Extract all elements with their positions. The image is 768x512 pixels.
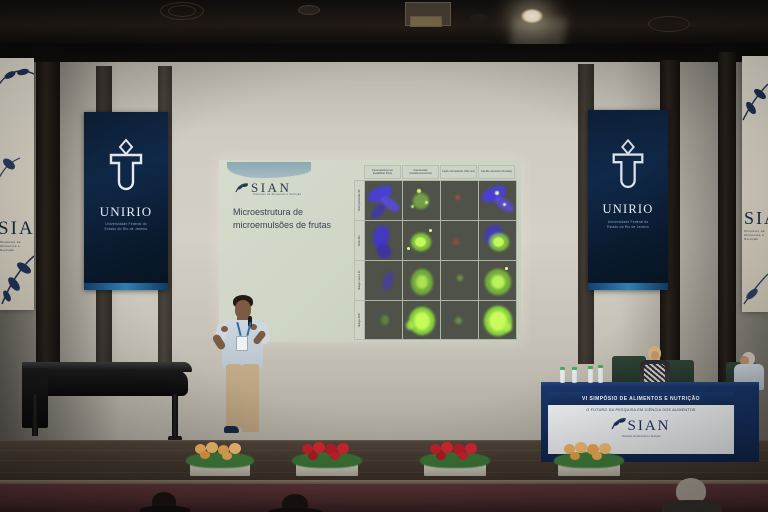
- unirio-banner-left: UNIRIO Universidade Federal do Estado do…: [84, 112, 168, 290]
- slide-page-number: 12: [514, 336, 517, 340]
- projection-screen: SIAN Simpósio de Alimentos e Nutrição Mi…: [219, 160, 521, 342]
- banner-sian-word: SIAN: [548, 416, 734, 435]
- piano-leg-right: [172, 394, 178, 440]
- slide-title: Microestrutura de microemulsões de fruta…: [233, 206, 351, 232]
- ceiling-spotlight: [520, 8, 544, 24]
- ceiling-recessed-light: [298, 5, 320, 15]
- piano-leg-left: [32, 394, 38, 436]
- sian-leaf-icon: [235, 181, 249, 195]
- micrograph-cell-c3: [440, 260, 479, 301]
- unirio-banner-right-name: UNIRIO: [588, 202, 668, 217]
- micrograph-cell-d1: [364, 300, 403, 340]
- micrograph-cell-b1: [364, 220, 403, 261]
- unirio-banner-strip: [84, 283, 168, 290]
- micrograph-cell-a1: [364, 180, 403, 221]
- conference-photo-scene: SIAN Simpósio de Alimentos e Nutrição SI…: [0, 0, 768, 512]
- micrograph-grid: Fluorescência sol (Gelatificar filme) Ca…: [354, 165, 514, 338]
- planter-2-flower: [308, 452, 318, 460]
- unirio-logo-icon-right: [608, 138, 648, 194]
- slide-title-line1: Microestrutura de: [233, 206, 351, 219]
- water-bottle-4: [598, 368, 603, 383]
- ceiling-ring-light-3: [648, 16, 690, 32]
- pillar-left: [36, 62, 60, 372]
- planter-1-flower: [200, 451, 210, 459]
- projector-lens: [410, 16, 442, 27]
- leaf-motif-icon-3: [742, 82, 768, 122]
- leaf-branch-icon: [0, 254, 34, 306]
- leaf-motif-icon-2: [0, 150, 24, 186]
- unirio-banner-right-sub: Universidade Federal do Estado do Rio de…: [588, 220, 668, 230]
- banner-sian-sub: Simpósio de Alimentos e Nutrição: [548, 435, 734, 438]
- planter-4-flower: [599, 443, 611, 454]
- planter-2-foliage: [292, 452, 362, 468]
- leaf-motif-icon-4: [742, 270, 768, 306]
- side-banner-left: SIAN Simpósio de Alimentos e Nutrição: [0, 58, 34, 310]
- micrograph-cell-b3: [440, 220, 479, 261]
- planter-4-flower: [592, 452, 602, 460]
- event-title: VI SIMPÓSIO DE ALIMENTOS E NUTRIÇÃO: [582, 396, 700, 402]
- micrograph-cell-a4: [478, 180, 517, 221]
- bottle-cap-2: [572, 367, 577, 370]
- bottle-cap-3: [588, 366, 593, 369]
- planter-3-flower: [465, 443, 477, 454]
- slide-sian-tagline: Simpósio de Alimentos e Nutrição: [253, 193, 301, 196]
- micrograph-cell-a2: [402, 180, 441, 221]
- planter-1-flower: [222, 452, 232, 460]
- grid-col-header-3: Lipid microparticle (Nile red): [440, 165, 477, 179]
- speaker-hand-left: [221, 326, 228, 332]
- micrograph-cell-b4: [478, 220, 517, 261]
- audience-shoulder-left: [140, 506, 190, 512]
- ceiling-speaker: [470, 14, 488, 21]
- speaker-badge: [236, 336, 248, 351]
- side-banner-right-word: SIAN: [744, 208, 768, 229]
- piano-body: [26, 370, 188, 396]
- unirio-banner-right-strip: [588, 283, 668, 290]
- audience-shoulder-center: [268, 508, 322, 512]
- planter-3-flower: [458, 452, 468, 460]
- planter-4-foliage: [554, 452, 624, 468]
- pillar-far-right: [718, 52, 736, 382]
- planter-2-flower: [330, 452, 340, 460]
- side-banner-sub: Simpósio de Alimentos e Nutrição: [0, 240, 34, 252]
- speaker-shoe-left: [224, 426, 239, 433]
- banner-sian-leaf-icon: [611, 416, 627, 432]
- micrograph-cell-d2: [402, 300, 441, 340]
- side-banner-word: SIAN: [0, 218, 34, 240]
- planter-3-flower: [436, 452, 446, 460]
- grid-col-header-1: Fluorescência sol (Gelatificar filme): [364, 165, 401, 179]
- speaker-leg-right: [242, 364, 259, 432]
- unirio-logo-icon: [105, 138, 147, 196]
- unirio-banner-sub: Universidade Federal do Estado do Rio de…: [84, 222, 168, 232]
- unirio-banner-name: UNIRIO: [84, 204, 168, 220]
- panelist-left-face: [651, 351, 659, 360]
- water-bottle-2: [572, 370, 577, 383]
- micrograph-cell-d4: [478, 300, 517, 340]
- bottle-cap-1: [560, 367, 565, 370]
- planter-2-flower: [337, 443, 349, 454]
- audience-shoulder-right: [662, 500, 722, 512]
- water-bottle-3: [588, 369, 593, 383]
- micrograph-cell-c4: [478, 260, 517, 301]
- banner-sian-text: SIAN: [627, 418, 670, 434]
- grid-col-header-2: Carotenoide (Autofluorescência): [402, 165, 439, 179]
- planter-4-flower: [570, 452, 580, 460]
- micrograph-cell-d3: [440, 300, 479, 340]
- speaker-leg-left: [226, 364, 242, 428]
- side-banner-right-sub: Simpósio de Alimentos e Nutrição: [744, 229, 768, 241]
- micrograph-cell-a3: [440, 180, 479, 221]
- leaf-motif-icon: [0, 64, 34, 94]
- presentation-slide: SIAN Simpósio de Alimentos e Nutrição Mi…: [219, 160, 521, 342]
- audience-seating-wall: [0, 484, 768, 512]
- water-bottle-1: [560, 370, 565, 383]
- planter-3-foliage: [420, 452, 490, 468]
- unirio-banner-right: UNIRIO Universidade Federal do Estado do…: [588, 110, 668, 290]
- micrograph-cell-c2: [402, 260, 441, 301]
- slide-header-wave: [227, 162, 311, 178]
- side-banner-right: SIAN Simpósio de Alimentos e Nutrição: [742, 56, 768, 312]
- micrograph-cell-c1: [364, 260, 403, 301]
- ceiling-ring-light-2: [168, 5, 196, 17]
- grid-col-header-4: Gel-like structure (Overlay): [478, 165, 515, 179]
- slide-title-line2: microemulsões de frutas: [233, 219, 351, 232]
- event-title-bar: VI SIMPÓSIO DE ALIMENTOS E NUTRIÇÃO: [548, 392, 734, 405]
- micrograph-cell-b2: [402, 220, 441, 261]
- event-subtitle: O FUTURO DA PESQUISA EM CIÊNCIA DOS ALIM…: [548, 408, 734, 412]
- planter-1-flower: [229, 443, 241, 454]
- bottle-cap-4: [598, 365, 603, 368]
